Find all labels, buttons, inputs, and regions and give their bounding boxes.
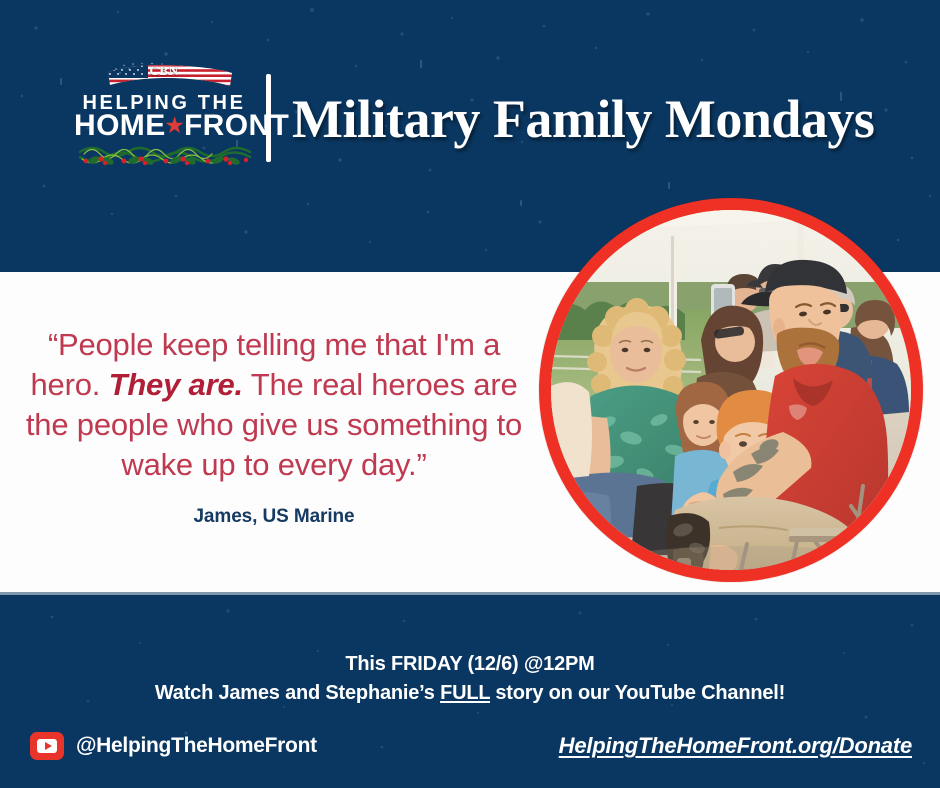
page-title: Military Family Mondays: [292, 88, 874, 150]
youtube-icon[interactable]: [30, 732, 64, 760]
broadcast-description-line: Watch James and Stephanie’s FULL story o…: [0, 682, 940, 705]
youtube-handle-row[interactable]: @HelpingTheHomeFront: [30, 732, 317, 760]
circular-photo-frame: [539, 198, 923, 582]
logo-word-home: HOME: [74, 109, 166, 142]
helping-the-home-front-logo[interactable]: CBN HELPING THE HOME★FRONT: [74, 62, 254, 170]
promo-text-after: story on our YouTube Channel!: [490, 682, 785, 704]
logo-word-front: FRONT: [184, 109, 289, 142]
youtube-icon-screen: [37, 739, 57, 753]
cbn-wordmark: CBN: [124, 63, 204, 79]
promo-text-full-emphasis: FULL: [440, 682, 490, 704]
christmas-garland-icon: [78, 140, 252, 170]
quote-attribution: James, US Marine: [24, 506, 524, 528]
logo-star-icon: ★: [166, 115, 184, 137]
poster-canvas: CBN HELPING THE HOME★FRONT: [0, 0, 940, 788]
youtube-handle-label[interactable]: @HelpingTheHomeFront: [76, 734, 317, 758]
promo-text-before: Watch James and Stephanie’s: [155, 682, 440, 704]
testimonial-quote: “People keep telling me that I'm a hero.…: [24, 325, 524, 485]
logo-line-home-front: HOME★FRONT: [74, 111, 254, 141]
play-triangle-icon: [45, 742, 52, 750]
broadcast-date-line: This FRIDAY (12/6) @12PM: [0, 653, 940, 676]
donate-link[interactable]: HelpingTheHomeFront.org/Donate: [559, 733, 912, 759]
family-photo: [551, 210, 911, 570]
header-vertical-divider: [266, 74, 271, 162]
quote-emphasis: They are.: [109, 367, 243, 402]
